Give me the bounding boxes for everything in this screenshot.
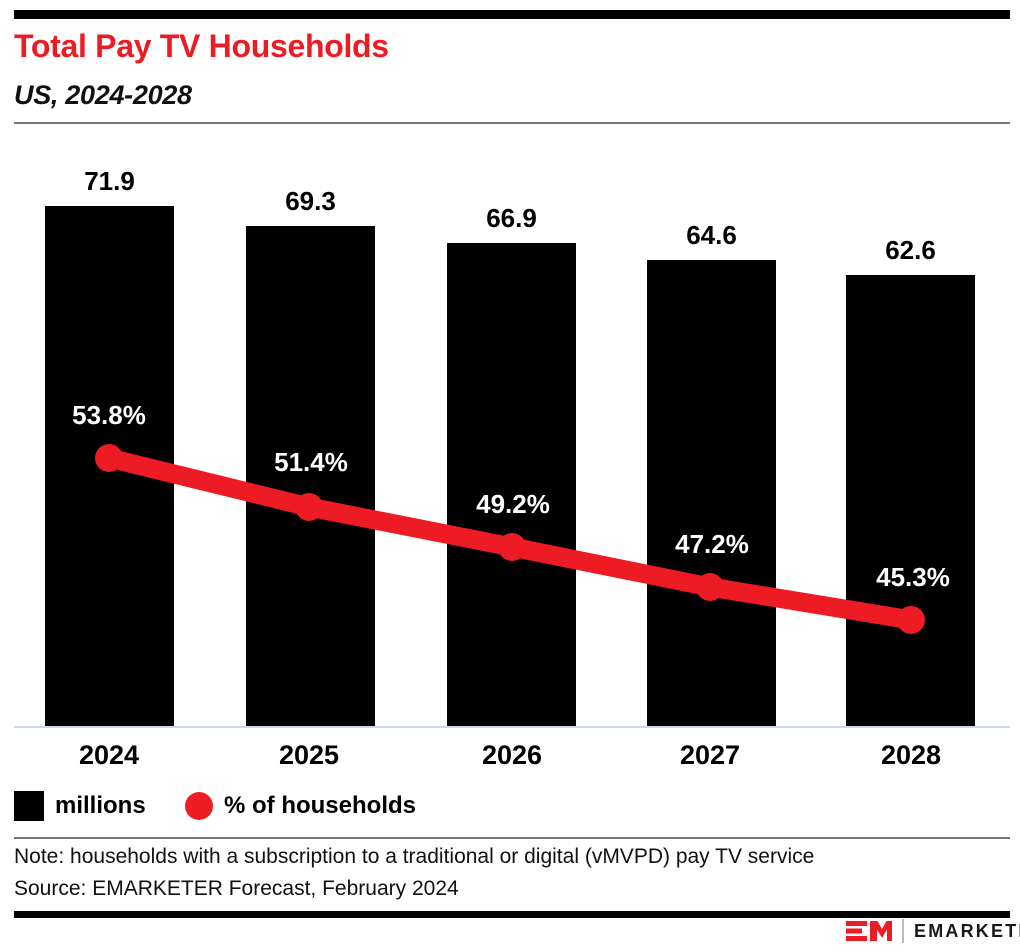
x-axis-line — [14, 726, 1010, 728]
black-square-icon — [14, 791, 44, 821]
legend-item-percent: % of households — [185, 790, 416, 822]
bar-value-label-2028: 62.6 — [846, 235, 975, 266]
x-tick-2024: 2024 — [39, 740, 179, 771]
red-circle-icon — [185, 792, 213, 820]
footer-divider — [14, 837, 1010, 839]
bar-2027 — [647, 260, 776, 727]
chart-source: Source: EMARKETER Forecast, February 202… — [14, 877, 459, 901]
bar-value-label-2026: 66.9 — [447, 203, 576, 234]
logo-divider — [902, 919, 904, 943]
bar-value-label-2024: 71.9 — [45, 166, 174, 197]
chart-page: Total Pay TV Households US, 2024-2028 71… — [0, 0, 1020, 952]
percent-label-2027: 47.2% — [632, 529, 792, 560]
em-monogram-icon — [846, 920, 892, 942]
bar-value-label-2027: 64.6 — [647, 220, 776, 251]
x-tick-2027: 2027 — [640, 740, 780, 771]
x-tick-2028: 2028 — [841, 740, 981, 771]
x-tick-2026: 2026 — [442, 740, 582, 771]
plot-area: 71.969.366.964.662.6 2024202520262027202… — [0, 0, 1020, 760]
legend-item-millions: millions — [14, 790, 146, 822]
bar-2024 — [45, 206, 174, 727]
logo-wordmark: EMARKETER — [914, 921, 1020, 942]
bar-value-label-2025: 69.3 — [246, 186, 375, 217]
percent-label-2026: 49.2% — [433, 489, 593, 520]
percent-label-2025: 51.4% — [231, 447, 391, 478]
bar-2026 — [447, 243, 576, 727]
bottom-rule — [14, 911, 1010, 918]
x-tick-2025: 2025 — [239, 740, 379, 771]
bar-2028 — [846, 275, 975, 727]
legend-label-millions: millions — [55, 792, 146, 820]
legend-label-percent: % of households — [224, 792, 416, 820]
chart-note: Note: households with a subscription to … — [14, 845, 814, 869]
percent-label-2028: 45.3% — [833, 562, 993, 593]
percent-label-2024: 53.8% — [29, 400, 189, 431]
emarketer-logo: EMARKETER — [846, 918, 1020, 944]
